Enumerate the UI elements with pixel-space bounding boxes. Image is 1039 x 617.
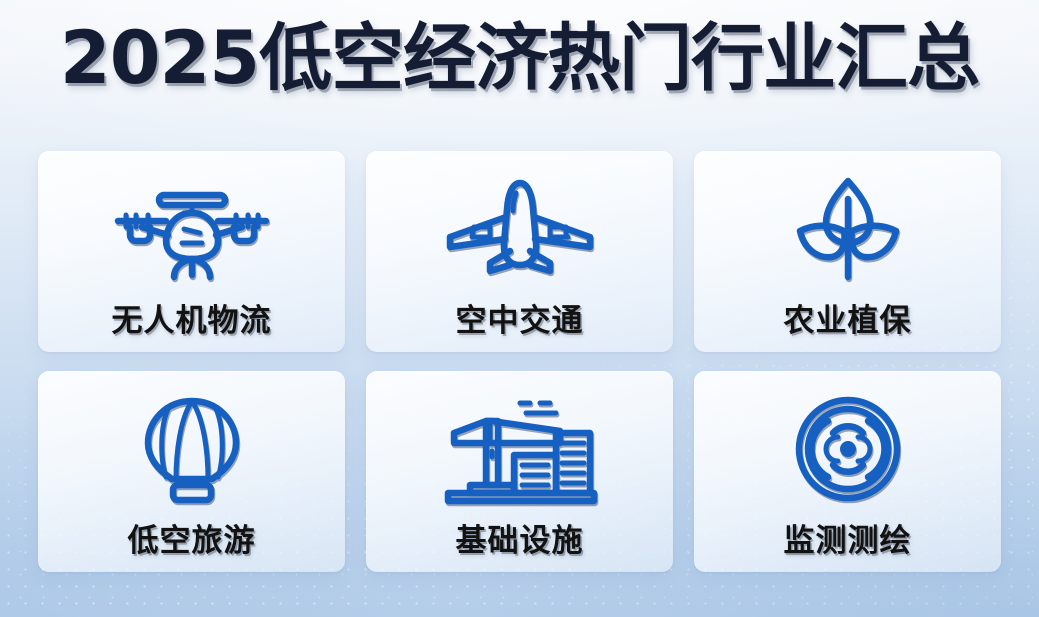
- airplane-icon: [440, 177, 600, 281]
- industry-card-label: 空中交通: [456, 295, 584, 340]
- industry-card-monitoring[interactable]: 监测测绘: [694, 371, 1001, 572]
- industry-card-label: 农业植保: [784, 295, 912, 340]
- industry-card-infrastructure[interactable]: 基础设施: [366, 371, 673, 572]
- industry-card-grid: 无人机物流 空中交通 农业植保: [38, 151, 1001, 572]
- drone-icon: [104, 177, 280, 281]
- industry-card-label: 基础设施: [456, 515, 584, 560]
- plant-sprout-icon: [788, 177, 908, 281]
- page-title: 2025低空经济热门行业汇总: [0, 22, 1039, 95]
- hot-air-balloon-icon: [136, 397, 248, 501]
- industry-card-label: 监测测绘: [784, 515, 912, 560]
- radar-waves-icon: [793, 397, 903, 501]
- industry-card-agriculture[interactable]: 农业植保: [694, 151, 1001, 352]
- industry-card-label: 低空旅游: [128, 515, 256, 560]
- construction-crane-icon: [442, 397, 598, 501]
- industry-card-tourism[interactable]: 低空旅游: [38, 371, 345, 572]
- industry-card-label: 无人机物流: [112, 295, 272, 340]
- industry-card-drone-logistics[interactable]: 无人机物流: [38, 151, 345, 352]
- industry-card-air-traffic[interactable]: 空中交通: [366, 151, 673, 352]
